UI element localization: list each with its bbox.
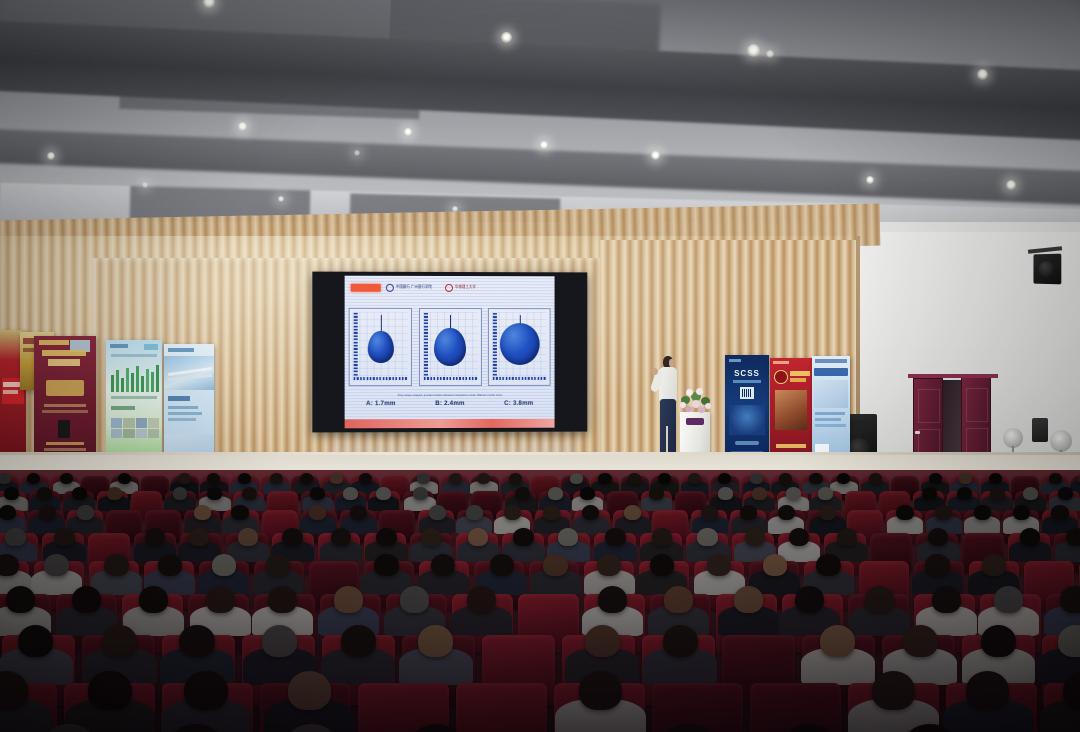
attendee-head [477,473,490,484]
banner-green-chart-poster [106,340,162,462]
attendee-head [266,554,290,576]
door-handle[interactable] [915,431,920,434]
slide-figure-note: Drop shape analysis: pendant droplet dia… [345,394,555,397]
attendee-head [145,528,165,546]
banner-subtitle [733,380,761,383]
banner-headline-2 [790,378,806,382]
presenter-trousers [660,399,676,453]
ceiling-light [354,150,360,156]
banner-maroon-poster [34,336,96,464]
attendee-head [0,473,11,484]
attendee-head [809,473,822,484]
ceiling-light [747,44,760,57]
attendee-head [598,586,627,613]
attendee-head [597,554,621,576]
attendee-head [786,487,801,500]
attendee-head [376,487,391,500]
attendee-head [207,487,222,500]
wall-speaker-icon [1033,254,1061,285]
attendee-head [543,554,567,576]
attendee-head [72,487,87,500]
banner-title-text [39,340,69,345]
attendee-head [77,505,94,520]
attendee-head [1020,528,1040,546]
attendee-head [837,528,857,546]
attendee-head [929,473,942,484]
bank-logo-icon [386,284,394,292]
attendee-head [570,473,583,484]
attendee-head [207,473,220,484]
banner-text-line [815,418,841,421]
attendee-head [658,473,671,484]
attendee-head [39,505,56,520]
attendee-head [548,487,563,500]
stage-edge-highlight [0,452,1080,455]
panel-axis-bottom [423,377,477,380]
banner-qr-code [740,387,754,399]
attendee-head [417,473,430,484]
door-panel [918,389,940,423]
droplet-shape-b [434,328,466,366]
slide-logo-right-text: 华南理工大学 [455,286,476,290]
ceiling-light [278,196,284,202]
attendee-head [752,487,767,500]
banner-button [735,441,759,445]
banner-text-line [44,448,86,451]
ceiling-light [651,151,660,160]
attendee-head [212,554,236,576]
banner-photo [814,380,848,408]
attendee-head [189,528,209,546]
attendee-head [413,487,428,500]
attendee-head [928,528,948,546]
attendee-head [421,528,441,546]
attendee-head [865,586,894,613]
attendee-head [60,473,73,484]
banner-headline [814,368,848,376]
attendee-head [270,473,283,484]
attendee-head [429,505,446,520]
attendee-head [1058,487,1073,500]
attendee-head [872,671,915,710]
attendee-head [418,625,453,657]
attendee-head [515,487,530,500]
theater-seat[interactable] [750,683,840,732]
attendee-head [27,473,40,484]
banner-title-text [168,348,194,352]
banner-text-line [168,412,202,415]
speaker-tweeter [850,420,868,429]
attendee-head [837,473,850,484]
ceiling-light [238,122,247,131]
attendee-head [467,586,496,613]
panel-axis-left [423,313,427,379]
banner-subtitle [111,406,135,410]
attendee-head [745,528,765,546]
attendee-head [231,505,248,520]
attendee-head [513,528,533,546]
attendee-head [331,528,351,546]
ceiling-light [977,69,988,80]
ceiling-light [404,128,412,136]
banner-text-line [44,404,86,407]
attendee-head [580,487,595,500]
attendee-head [903,625,938,657]
panel-axis-left [354,313,358,379]
banner-red-right [770,358,812,462]
attendee-head [400,586,429,613]
presenter-face [669,359,674,367]
attendee-head [981,625,1016,657]
attendee-head [649,487,664,500]
droplet-panel-a [349,308,412,386]
banner-bar-chart [111,364,159,392]
ceiling-light [540,141,548,149]
lectern [678,388,712,460]
attendee-head [974,505,991,520]
attendee-head [820,625,855,657]
attendee-head [932,586,961,613]
attendee-head [139,586,168,613]
banner-text-line [815,412,845,415]
attendee-head [6,586,35,613]
door-panel [966,388,988,422]
theater-seat[interactable] [456,683,546,732]
banner-product-image [58,420,70,438]
attendee-head [605,528,625,546]
slide-footer-bar [345,419,555,429]
attendee-head [982,554,1006,576]
panel-axis-left [493,313,497,379]
ceiling-light [766,50,774,58]
attendee-head [309,505,326,520]
attendee-head [468,528,488,546]
banner-text-line [168,406,198,409]
attendee-head [206,586,235,613]
attendee-head [585,625,620,657]
droplet-shape-c [499,323,539,365]
attendee-head [178,473,191,484]
attendee-head [466,505,483,520]
attendee-head [718,473,731,484]
attendee-head [18,625,53,657]
attendee-head [44,554,68,576]
ceiling-light [142,182,148,188]
attendee-head [688,473,701,484]
led-presentation-screen: 中国銀行 广州银行学院 华南理工大学 [312,272,587,433]
fan-head-icon [1050,430,1072,452]
attendee-head [734,586,763,613]
attendee-head [5,528,25,546]
fan-box-icon [1032,418,1048,442]
attendee-head [750,473,763,484]
banner-text-line [168,418,196,421]
conference-hall-photo: SCSS 中国銀行 广州银行学院 [0,0,1080,732]
slide-logo-left: 中国銀行 广州银行学院 [386,284,432,292]
attendee-head [262,625,297,657]
banner-text-line [42,410,88,413]
ceiling-light [501,32,512,43]
banner-headline [42,350,86,356]
attendee-head [350,505,367,520]
attendee-head [343,487,358,500]
attendee-head [543,505,560,520]
attendee-head [558,528,578,546]
attendee-head [1013,505,1030,520]
attendee-head [707,554,731,576]
attendee-head [966,671,1009,710]
attendee-head [925,554,949,576]
attendee-head [624,505,641,520]
banner-text-block [3,390,18,394]
attendee-head [238,473,251,484]
attendee-head [300,473,313,484]
slide-logo-left-text: 中国銀行 广州银行学院 [396,286,432,290]
caption-a: A: 1.7mm [349,400,413,407]
attendee-head [504,505,521,520]
attendee-head [994,586,1023,613]
attendee-head [818,487,833,500]
attendee-head [341,625,376,657]
attendee-head [0,554,19,576]
banner-top-text [729,359,741,362]
attendee-head [88,671,131,710]
attendee-head [816,554,840,576]
banner-text-line [111,396,157,399]
attendee-head [334,586,363,613]
attendee-head [1066,528,1080,546]
attendee-head [72,586,101,613]
attendee-head [1060,586,1080,613]
attendee-head [288,671,331,710]
banner-title-text [815,359,847,363]
attendee-head [173,487,188,500]
attendee-head [179,625,214,657]
attendee-head [935,505,952,520]
banner-bridge-photo [164,356,214,390]
attendee-head [431,554,455,576]
droplet-panel-c [488,308,551,386]
attendee-head [922,487,937,500]
lectern-nameplate [686,418,704,425]
banner-headline [168,396,190,401]
attendee-head [107,487,122,500]
attendee-head [896,505,913,520]
caption-b: B: 2.4mm [418,400,482,407]
attendee-head [104,554,128,576]
panel-axis-bottom [354,377,408,380]
attendee-head [509,473,522,484]
banner-title-text [110,344,128,348]
droplet-panel-b [418,308,481,386]
attendee-head [957,487,972,500]
ceiling-light [866,176,874,184]
presenter-leg-gap [666,426,668,453]
attendee-head [663,625,698,657]
attendee-head [664,586,693,613]
attendee-head [628,473,641,484]
attendee-head [158,554,182,576]
attendee-head [990,487,1005,500]
banner-photo-grid [111,418,159,438]
attendee-head [242,487,257,500]
attendee-head [579,671,622,710]
banner-gold-box [46,380,84,396]
attendee-head [184,671,227,710]
attendee-head [778,505,795,520]
attendee-head [779,473,792,484]
slide-content: 中国銀行 广州银行学院 华南理工大学 [345,276,555,429]
attendee-head [989,473,1002,484]
attendee-head [282,528,302,546]
ceiling-light [1006,180,1016,190]
attendee-head [718,487,733,500]
attendee-head [37,487,52,500]
attendee-head [310,487,325,500]
attendee-head [102,625,137,657]
slide-logo-right: 华南理工大学 [445,284,476,292]
banner-blue-right [812,356,850,458]
speaker-cone [1039,261,1054,277]
fan-head-icon [1003,428,1023,448]
banner-photo [775,390,807,430]
panel-axis-bottom [493,377,547,380]
attendee-head [238,528,258,546]
presenter-hand [652,368,658,375]
banner-headline-2 [48,359,80,366]
flower-arrangement [677,386,715,418]
attendee-head [54,528,74,546]
banner-footer-text [776,444,806,448]
attendee-head [490,554,514,576]
slide-accent-box [351,284,381,292]
banner-top-text [773,361,789,364]
attendee-head [869,473,882,484]
attendee-head [795,586,824,613]
audience-seating-area [0,470,1080,732]
slide-header: 中国銀行 广州银行学院 华南理工大学 [345,280,555,297]
banner-text-line [815,424,846,427]
banner-graphic [729,405,765,435]
banner-circle-badge [774,370,788,384]
attendee-head [449,473,462,484]
attendee-head [959,473,972,484]
banner-text-line [46,442,84,445]
banner-logo [144,344,158,350]
door-frame-top [908,374,998,378]
ceiling-light [47,152,55,160]
attendee-head [1049,473,1062,484]
attendee-head [268,586,297,613]
university-logo-icon [445,284,453,292]
attendee-head [330,473,343,484]
attendee-head [1023,487,1038,500]
attendee-head [598,473,611,484]
banner-headline [790,371,810,376]
attendee-head [789,528,809,546]
caption-c: C: 3.8mm [487,400,551,407]
attendee-head [118,473,131,484]
attendee-head [1051,505,1068,520]
banner-scss: SCSS [725,355,769,463]
banner-scss-title: SCSS [725,369,769,378]
attendee-head [763,554,787,576]
attendee-head [4,487,19,500]
attendee-head [650,554,674,576]
attendee-head [740,505,757,520]
banner-text-line [111,354,157,357]
attendee-head [652,528,672,546]
slide-figure-captions: A: 1.7mm B: 2.4mm C: 3.8mm [349,400,551,407]
droplet-shape-a [367,331,393,363]
attendee-head [359,473,372,484]
slide-figure-row [349,300,551,394]
attendee-head [374,554,398,576]
attendee-head [697,528,717,546]
attendee-head [582,505,599,520]
attendee-head [194,505,211,520]
attendee-head [376,528,396,546]
banner-blue-bridge-poster [164,344,214,462]
